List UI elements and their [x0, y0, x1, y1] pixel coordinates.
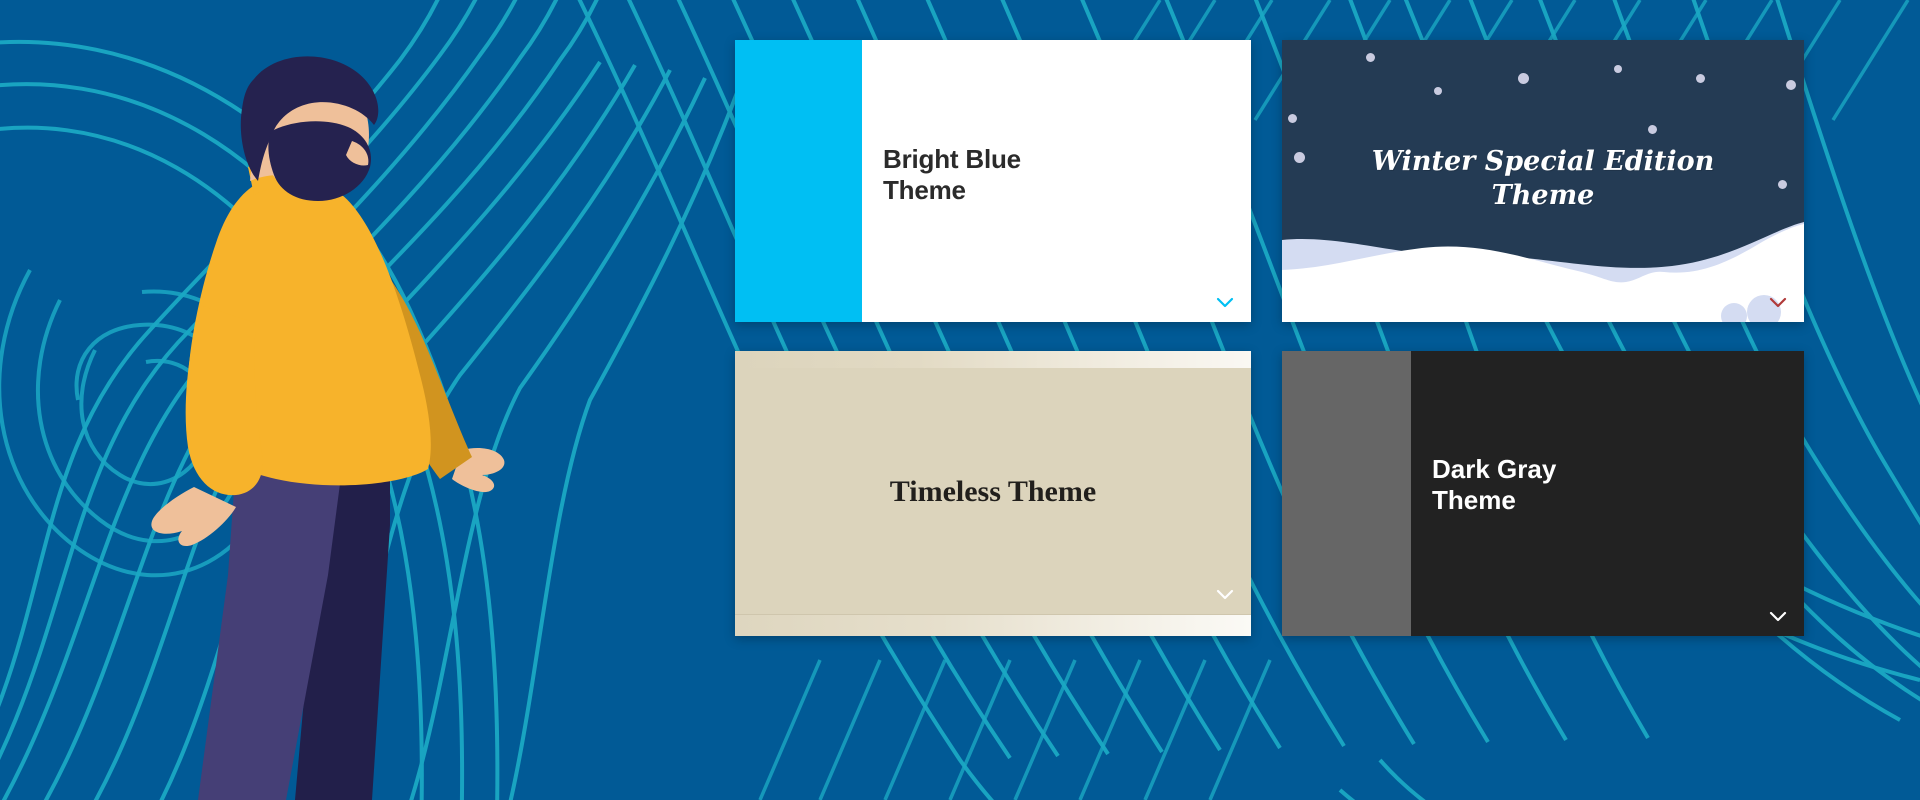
walking-man-illustration [90, 55, 570, 800]
theme-card-title: Winter Special Edition Theme [1282, 145, 1804, 213]
theme-card-title: Dark Gray Theme [1432, 454, 1556, 516]
snowflake [1614, 65, 1622, 73]
chevron-down-icon[interactable] [1213, 290, 1237, 314]
decor-strip-bottom [735, 614, 1251, 636]
snowflake [1288, 114, 1297, 123]
snow-drift-graphic [1282, 212, 1804, 322]
snowflake [1434, 87, 1442, 95]
theme-grid: Bright Blue Theme [735, 40, 1805, 800]
snowflake [1696, 74, 1705, 83]
theme-card-winter[interactable]: Winter Special Edition Theme [1282, 40, 1804, 322]
chevron-down-icon[interactable] [1213, 582, 1237, 606]
theme-card-dark-gray[interactable]: Dark Gray Theme [1282, 351, 1804, 636]
snowflake [1366, 53, 1375, 62]
chevron-down-icon[interactable] [1766, 290, 1790, 314]
theme-card-timeless[interactable]: Timeless Theme [735, 351, 1251, 636]
chevron-down-icon[interactable] [1766, 604, 1790, 628]
decor-strip-top [735, 351, 1251, 368]
theme-card-bright-blue[interactable]: Bright Blue Theme [735, 40, 1251, 322]
snowflake [1786, 80, 1796, 90]
snowflake [1518, 73, 1529, 84]
snowflake [1648, 125, 1657, 134]
theme-card-title: Timeless Theme [735, 474, 1251, 510]
accent-bar [735, 40, 862, 322]
accent-bar [1282, 351, 1411, 636]
theme-card-title: Bright Blue Theme [883, 144, 1021, 206]
theme-picker-screen: Bright Blue Theme [0, 0, 1920, 800]
